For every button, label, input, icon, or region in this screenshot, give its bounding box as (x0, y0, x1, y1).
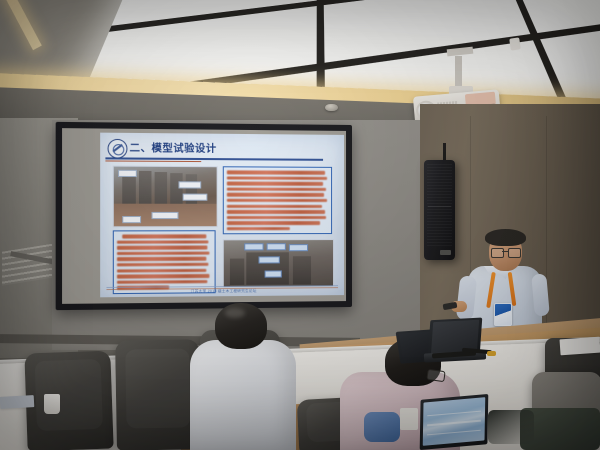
projector-pole-mount (455, 56, 462, 90)
speaker-cable (443, 143, 446, 161)
ceiling-spotlight (509, 37, 521, 50)
smoke-detector-icon (325, 104, 338, 111)
paper-sheet (559, 337, 600, 356)
projection-screen-surface: 二、模型试验设计 (62, 128, 346, 304)
audience-glasses-icon (426, 369, 445, 382)
presenter-hair (485, 229, 526, 246)
slide-title: 二、模型试验设计 (130, 139, 217, 155)
audience-member-1-head (215, 303, 267, 349)
cable-connector (487, 351, 496, 356)
university-emblem-logo-icon (108, 139, 128, 159)
wall-speaker (424, 160, 455, 260)
slide-photo-equipment-2 (223, 239, 334, 288)
slide-textbox-temperature (223, 166, 332, 234)
cup (44, 394, 60, 414)
slide-textbox-porous-media (113, 230, 216, 294)
hair-highlight (225, 308, 245, 318)
blue-item (364, 412, 400, 442)
projection-screen: 二、模型试验设计 (56, 122, 352, 310)
slide-title-rule-accent (105, 160, 201, 162)
speaker-badge (440, 250, 451, 255)
speaker-seam (428, 206, 451, 207)
slide-photo-equipment-1 (113, 166, 218, 228)
presentation-slide: 二、模型试验设计 (100, 133, 344, 298)
chair (115, 339, 201, 450)
paper-sheet (0, 395, 34, 409)
slide-footer: 江苏大学 2018 级土木工程研究生论坛 (100, 288, 344, 295)
bag-strap (488, 410, 534, 444)
laptop-audience[interactable] (420, 394, 489, 450)
audience-member-1-shirt (190, 340, 296, 450)
desk-object (400, 408, 418, 430)
presenter-glasses-icon (491, 248, 520, 256)
conference-room-photo: 二、模型试验设计 (0, 0, 600, 450)
chair (24, 351, 113, 450)
presenter-id-badge (494, 303, 512, 326)
